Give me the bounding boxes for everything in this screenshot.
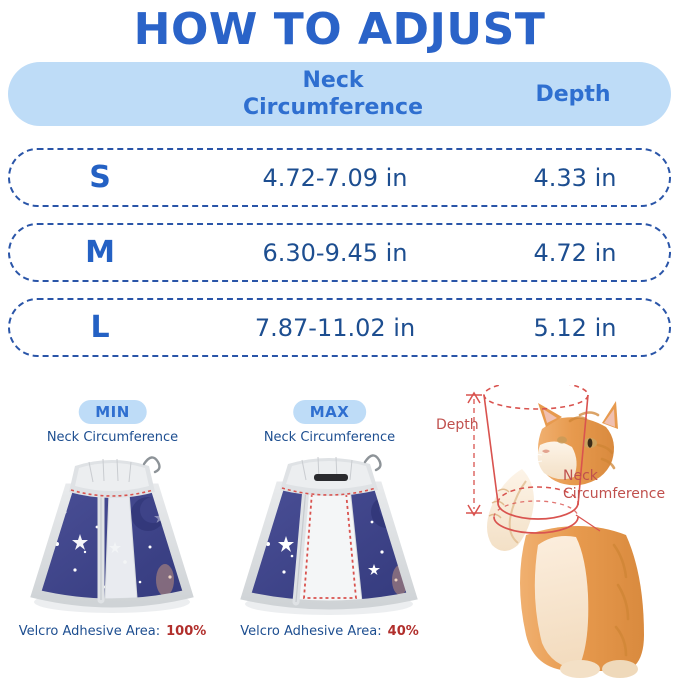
- table-header-bar: Neck Circumference Depth: [8, 62, 671, 126]
- label-neck-line1: Neck: [563, 467, 665, 485]
- neck-value-l: 7.87-11.02 in: [190, 300, 480, 355]
- depth-value-m: 4.72 in: [490, 225, 660, 280]
- badge-min: MIN: [78, 400, 147, 424]
- size-letter-s: S: [60, 150, 140, 205]
- badge-max: MAX: [293, 400, 367, 424]
- table-row-s: S 4.72-7.09 in 4.33 in: [8, 148, 671, 207]
- cone-photo-max: [222, 452, 437, 622]
- product-panel-min: MIN Neck Circumference: [5, 400, 220, 655]
- cone-photo-min: [5, 452, 220, 622]
- header-neck-circumference: Neck Circumference: [188, 62, 478, 126]
- cone-illustration-min: [5, 452, 220, 622]
- velcro-label-max: Velcro Adhesive Area:: [240, 624, 381, 639]
- size-letter-l: L: [60, 300, 140, 355]
- header-neck-line2: Circumference: [243, 94, 423, 121]
- depth-value-l: 5.12 in: [490, 300, 660, 355]
- header-neck-line1: Neck: [302, 67, 363, 94]
- neck-value-s: 4.72-7.09 in: [190, 150, 480, 205]
- product-panel-max: MAX Neck Circumference: [222, 400, 437, 655]
- velcro-value-max: 40%: [388, 624, 419, 639]
- infographic-page: HOW TO ADJUST Neck Circumference Depth S…: [0, 0, 679, 685]
- depth-value-s: 4.33 in: [490, 150, 660, 205]
- label-neck-circumference: Neck Circumference: [563, 467, 665, 503]
- table-row-m: M 6.30-9.45 in 4.72 in: [8, 223, 671, 282]
- size-letter-m: M: [60, 225, 140, 280]
- neck-value-m: 6.30-9.45 in: [190, 225, 480, 280]
- table-row-l: L 7.87-11.02 in 5.12 in: [8, 298, 671, 357]
- header-depth: Depth: [488, 62, 658, 126]
- cat-measurement-diagram: Depth Neck Circumference: [430, 385, 679, 681]
- velcro-area-min: Velcro Adhesive Area:100%: [5, 624, 220, 639]
- caption-min: Neck Circumference: [5, 430, 220, 445]
- label-neck-line2: Circumference: [563, 485, 665, 503]
- velcro-area-max: Velcro Adhesive Area:40%: [222, 624, 437, 639]
- velcro-value-min: 100%: [166, 624, 206, 639]
- page-title: HOW TO ADJUST: [0, 4, 679, 56]
- label-depth: Depth: [436, 417, 479, 433]
- cone-illustration-max: [222, 452, 437, 622]
- velcro-label-min: Velcro Adhesive Area:: [19, 624, 160, 639]
- caption-max: Neck Circumference: [222, 430, 437, 445]
